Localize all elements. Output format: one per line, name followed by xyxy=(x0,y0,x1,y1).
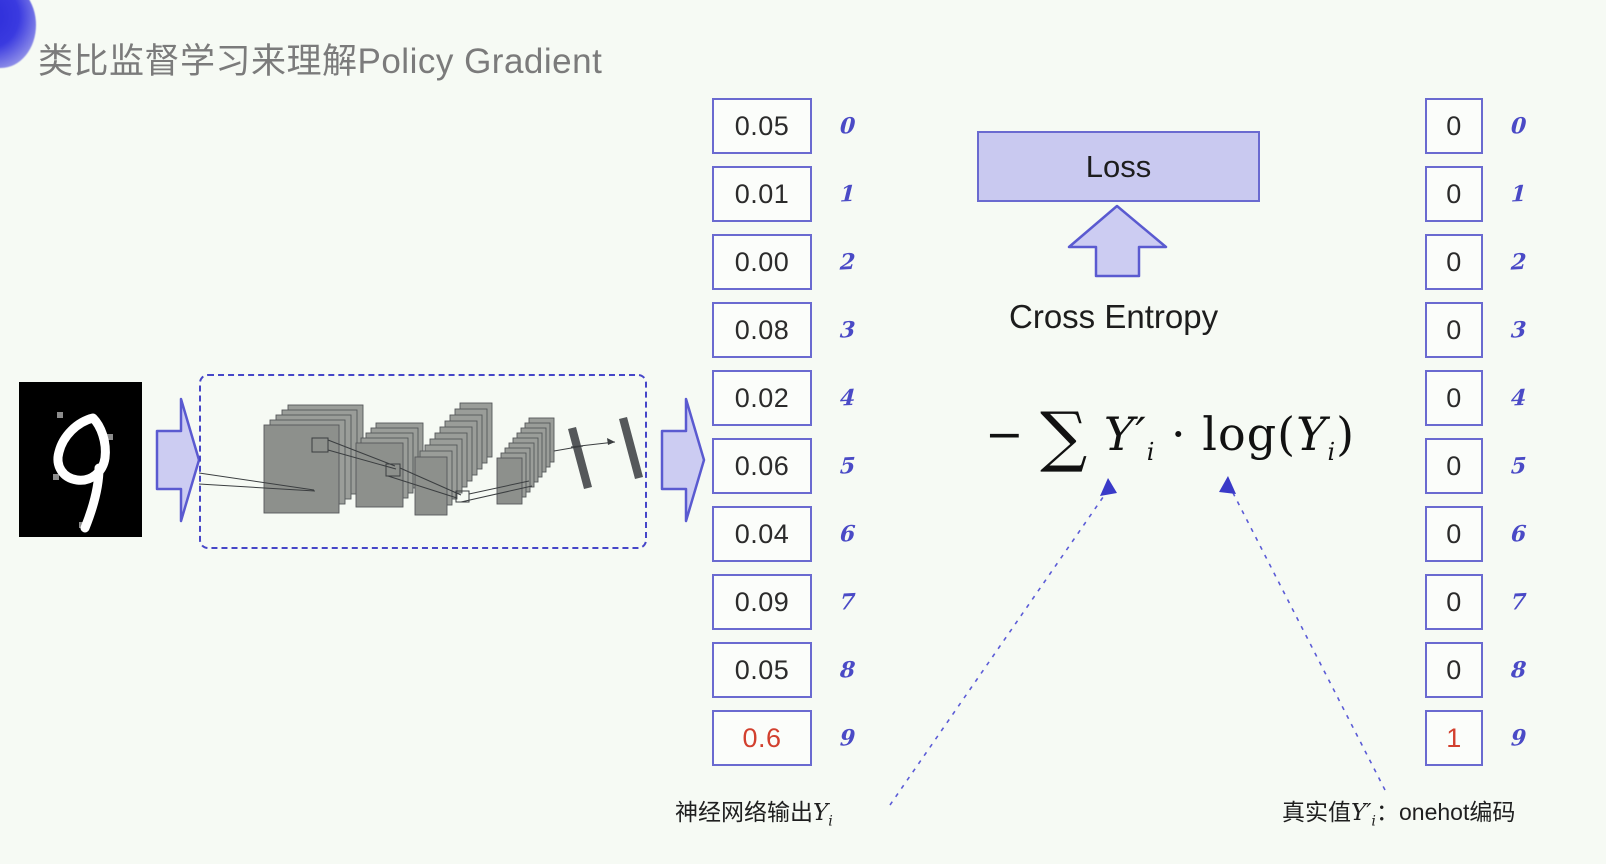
formula-sub-i-pred: i xyxy=(1327,438,1336,466)
prediction-cell[interactable]: 0.06 xyxy=(712,438,812,494)
class-index-label: 6 xyxy=(839,520,864,547)
prediction-row: 0.69 xyxy=(712,710,864,766)
prediction-cell[interactable]: 0.6 xyxy=(712,710,812,766)
target-cell[interactable]: 0 xyxy=(1425,370,1483,426)
formula-paren-close: ) xyxy=(1336,407,1355,461)
prediction-cell[interactable]: 0.09 xyxy=(712,574,812,630)
prediction-row: 0.083 xyxy=(712,302,864,358)
class-index-label: 1 xyxy=(839,180,864,207)
cross-entropy-label: Cross Entropy xyxy=(1009,298,1218,336)
prediction-cell[interactable]: 0.02 xyxy=(712,370,812,426)
class-index-label: 6 xyxy=(1510,520,1535,547)
target-cell[interactable]: 0 xyxy=(1425,574,1483,630)
page-title: 类比监督学习来理解Policy Gradient xyxy=(38,33,602,84)
prediction-caption-symbol: Y xyxy=(813,800,828,826)
target-row: 06 xyxy=(1425,506,1535,562)
prediction-row: 0.011 xyxy=(712,166,864,222)
formula-dot: · xyxy=(1171,407,1187,461)
formula-y-prime: Y xyxy=(1104,407,1135,461)
prediction-row: 0.046 xyxy=(712,506,864,562)
class-index-label: 9 xyxy=(1510,724,1535,751)
prediction-cell[interactable]: 0.08 xyxy=(712,302,812,358)
prediction-cell[interactable]: 0.05 xyxy=(712,98,812,154)
target-row: 03 xyxy=(1425,302,1535,358)
decorative-corner-circle xyxy=(0,0,36,68)
prediction-row: 0.024 xyxy=(712,370,864,426)
formula-log: log xyxy=(1202,407,1277,461)
formula-sub-i-target: i xyxy=(1147,438,1156,466)
prediction-row: 0.002 xyxy=(712,234,864,290)
class-index-label: 9 xyxy=(839,724,864,751)
target-row: 19 xyxy=(1425,710,1535,766)
formula-prime-mark: ′ xyxy=(1135,407,1146,461)
digit-9-glyph xyxy=(19,382,142,537)
mnist-input-image xyxy=(19,382,142,537)
prediction-row: 0.050 xyxy=(712,98,864,154)
prediction-row: 0.065 xyxy=(712,438,864,494)
class-index-label: 4 xyxy=(839,384,864,411)
prediction-row: 0.097 xyxy=(712,574,864,630)
target-row: 01 xyxy=(1425,166,1535,222)
formula-sigma: ∑ xyxy=(1040,398,1088,475)
class-index-label: 3 xyxy=(1510,316,1535,343)
prediction-caption-sub: i xyxy=(828,814,833,830)
class-index-label: 5 xyxy=(839,452,864,479)
target-caption-prefix: 真实值 xyxy=(1282,799,1351,825)
target-caption: 真实值Y′i：onehot编码 xyxy=(1282,793,1515,830)
target-cell[interactable]: 0 xyxy=(1425,642,1483,698)
loss-box[interactable]: Loss xyxy=(977,131,1260,202)
target-row: 04 xyxy=(1425,370,1535,426)
arrowhead-prediction xyxy=(1100,478,1117,496)
arrow-network-to-output xyxy=(660,395,706,525)
cnn-layer-stacks xyxy=(199,374,647,549)
prediction-cell[interactable]: 0.01 xyxy=(712,166,812,222)
target-cell[interactable]: 0 xyxy=(1425,438,1483,494)
prediction-caption-text: 神经网络输出 xyxy=(675,799,813,825)
target-cell[interactable]: 0 xyxy=(1425,506,1483,562)
class-index-label: 8 xyxy=(839,656,864,683)
formula-minus: − xyxy=(985,407,1025,461)
prediction-cell[interactable]: 0.00 xyxy=(712,234,812,290)
class-index-label: 1 xyxy=(1510,180,1535,207)
target-cell[interactable]: 1 xyxy=(1425,710,1483,766)
class-index-label: 7 xyxy=(839,588,864,615)
target-cell[interactable]: 0 xyxy=(1425,302,1483,358)
target-row: 07 xyxy=(1425,574,1535,630)
slide-canvas: 类比监督学习来理解Policy Gradient xyxy=(0,0,1606,864)
target-cell[interactable]: 0 xyxy=(1425,98,1483,154)
formula-paren-open: ( xyxy=(1277,407,1296,461)
target-row: 00 xyxy=(1425,98,1535,154)
cross-entropy-formula: − ∑ Y′i · log(Yi) xyxy=(985,398,1355,475)
class-index-label: 5 xyxy=(1510,452,1535,479)
class-index-label: 0 xyxy=(1510,112,1535,139)
arrow-input-to-network xyxy=(155,395,201,525)
target-row: 05 xyxy=(1425,438,1535,494)
class-index-label: 4 xyxy=(1510,384,1535,411)
prediction-cell[interactable]: 0.04 xyxy=(712,506,812,562)
class-index-label: 2 xyxy=(839,248,864,275)
target-row: 08 xyxy=(1425,642,1535,698)
target-row: 02 xyxy=(1425,234,1535,290)
class-index-label: 3 xyxy=(839,316,864,343)
prediction-caption: 神经网络输出Yi xyxy=(675,793,833,830)
arrowhead-target xyxy=(1219,476,1236,494)
formula-y: Y xyxy=(1296,407,1327,461)
target-cell[interactable]: 0 xyxy=(1425,234,1483,290)
arrow-up-to-loss xyxy=(1065,203,1170,279)
class-index-label: 0 xyxy=(839,112,864,139)
class-index-label: 8 xyxy=(1510,656,1535,683)
class-index-label: 2 xyxy=(1510,248,1535,275)
class-index-label: 7 xyxy=(1510,588,1535,615)
target-caption-symbol: Y xyxy=(1351,800,1366,826)
target-cell[interactable]: 0 xyxy=(1425,166,1483,222)
prediction-row: 0.058 xyxy=(712,642,864,698)
prediction-cell[interactable]: 0.05 xyxy=(712,642,812,698)
target-caption-suffix: ：onehot编码 xyxy=(1376,799,1515,825)
